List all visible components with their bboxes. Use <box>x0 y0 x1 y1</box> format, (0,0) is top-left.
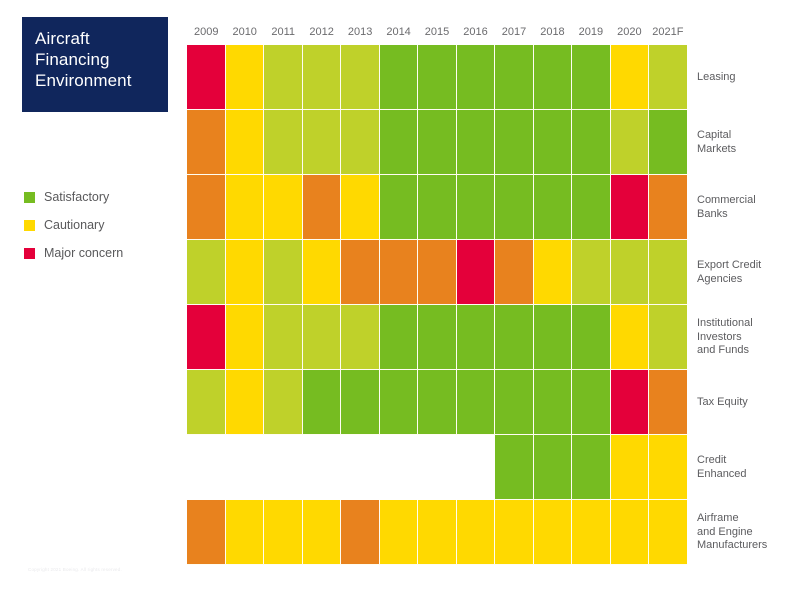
heatmap-row-label-line: and Funds <box>697 344 797 358</box>
heatmap-cell[interactable] <box>187 110 226 175</box>
heatmap-row-label-line: Capital <box>697 129 797 143</box>
heatmap-cell[interactable] <box>457 370 496 435</box>
year-column-header: 2013 <box>341 22 379 45</box>
year-column-header: 2018 <box>533 22 571 45</box>
heatmap-cell[interactable] <box>418 500 457 565</box>
page-title: Aircraft Financing Environment <box>22 17 168 112</box>
heatmap-cell[interactable] <box>457 110 496 175</box>
heatmap-cell[interactable] <box>495 435 534 500</box>
heatmap-cell[interactable] <box>341 175 380 240</box>
heatmap-cell[interactable] <box>572 175 611 240</box>
heatmap-cell[interactable] <box>611 45 650 110</box>
heatmap-row-label-line: and Engine <box>697 526 797 540</box>
heatmap-cell[interactable] <box>226 110 265 175</box>
heatmap-cell[interactable] <box>264 305 303 370</box>
heatmap-cell[interactable] <box>495 370 534 435</box>
heatmap-cell[interactable] <box>418 435 457 500</box>
heatmap-cell[interactable] <box>572 435 611 500</box>
heatmap-cell[interactable] <box>534 110 573 175</box>
heatmap-cell[interactable] <box>457 240 496 305</box>
heatmap-cell[interactable] <box>611 435 650 500</box>
heatmap-cell[interactable] <box>380 45 419 110</box>
year-column-header: 2010 <box>225 22 263 45</box>
heatmap-row-label-line: Institutional <box>697 317 797 331</box>
heatmap-row-label-line: Manufacturers <box>697 539 797 553</box>
heatmap-cell[interactable] <box>572 240 611 305</box>
heatmap-cell[interactable] <box>572 500 611 565</box>
year-column-header: 2009 <box>187 22 225 45</box>
heatmap-cell[interactable] <box>457 175 496 240</box>
heatmap-row-label: Tax Equity <box>697 370 797 435</box>
heatmap-cell[interactable] <box>649 45 687 110</box>
heatmap-cell[interactable] <box>649 370 687 435</box>
legend-item: Satisfactory <box>24 183 184 211</box>
heatmap-cell[interactable] <box>495 500 534 565</box>
heatmap-cell[interactable] <box>264 240 303 305</box>
heatmap-cell[interactable] <box>380 435 419 500</box>
heatmap-cell[interactable] <box>303 45 342 110</box>
heatmap-row <box>187 435 687 500</box>
heatmap-row <box>187 370 687 435</box>
heatmap-cell[interactable] <box>341 305 380 370</box>
heatmap-row-label-line: Airframe <box>697 512 797 526</box>
heatmap-cell[interactable] <box>187 370 226 435</box>
year-column-header: 2012 <box>302 22 340 45</box>
legend-item-label: Major concern <box>44 246 123 260</box>
heatmap-row-label: InstitutionalInvestorsand Funds <box>697 305 797 370</box>
heatmap-cell[interactable] <box>303 500 342 565</box>
heatmap-cell[interactable] <box>380 305 419 370</box>
year-column-header: 2020 <box>610 22 648 45</box>
heatmap-row-label-line: Leasing <box>697 71 797 85</box>
heatmap-cell[interactable] <box>534 500 573 565</box>
legend-item-label: Satisfactory <box>44 190 109 204</box>
heatmap-cell[interactable] <box>418 45 457 110</box>
heatmap-cell[interactable] <box>187 240 226 305</box>
heatmap-cell[interactable] <box>611 110 650 175</box>
heatmap-cell[interactable] <box>303 370 342 435</box>
heatmap-row <box>187 45 687 110</box>
heatmap-cell[interactable] <box>264 45 303 110</box>
heatmap-cell[interactable] <box>264 500 303 565</box>
heatmap-cell[interactable] <box>380 175 419 240</box>
heatmap-cell[interactable] <box>649 305 687 370</box>
legend-swatch-icon <box>24 248 35 259</box>
heatmap-cell[interactable] <box>649 435 687 500</box>
heatmap-cell[interactable] <box>495 45 534 110</box>
heatmap-cell[interactable] <box>341 240 380 305</box>
heatmap-cell[interactable] <box>380 500 419 565</box>
heatmap-cell[interactable] <box>572 370 611 435</box>
heatmap-cell[interactable] <box>611 175 650 240</box>
heatmap-cell[interactable] <box>457 500 496 565</box>
heatmap-cell[interactable] <box>341 110 380 175</box>
heatmap-row-label-line: Commercial <box>697 194 797 208</box>
heatmap-cell[interactable] <box>534 45 573 110</box>
heatmap-cell[interactable] <box>649 500 687 565</box>
heatmap-row-label: CreditEnhanced <box>697 435 797 500</box>
heatmap-cell[interactable] <box>187 500 226 565</box>
heatmap-cell[interactable] <box>226 370 265 435</box>
heatmap: 2009201020112012201320142015201620172018… <box>187 22 687 565</box>
heatmap-row-label: CapitalMarkets <box>697 110 797 175</box>
heatmap-cell[interactable] <box>611 370 650 435</box>
heatmap-row-label-line: Banks <box>697 208 797 222</box>
page-title-line-2: Financing <box>35 49 168 70</box>
heatmap-cell[interactable] <box>534 240 573 305</box>
heatmap-row-label-line: Agencies <box>697 273 797 287</box>
heatmap-cell[interactable] <box>649 175 687 240</box>
heatmap-cell[interactable] <box>534 305 573 370</box>
heatmap-row-label: CommercialBanks <box>697 175 797 240</box>
heatmap-cell[interactable] <box>649 240 687 305</box>
heatmap-row-label-line: Credit <box>697 454 797 468</box>
heatmap-cell[interactable] <box>303 435 342 500</box>
legend-item-label: Cautionary <box>44 218 104 232</box>
heatmap-cell[interactable] <box>264 110 303 175</box>
heatmap-cell[interactable] <box>572 305 611 370</box>
heatmap-row-label: Export CreditAgencies <box>697 240 797 305</box>
heatmap-cell[interactable] <box>495 305 534 370</box>
heatmap-cell[interactable] <box>341 500 380 565</box>
heatmap-cell[interactable] <box>187 305 226 370</box>
legend-item: Cautionary <box>24 211 184 239</box>
heatmap-cell[interactable] <box>418 305 457 370</box>
heatmap-cell[interactable] <box>226 175 265 240</box>
page-title-line-3: Environment <box>35 70 168 91</box>
year-column-header: 2014 <box>379 22 417 45</box>
heatmap-cell[interactable] <box>187 45 226 110</box>
heatmap-row-label: Airframeand EngineManufacturers <box>697 500 797 565</box>
heatmap-cell[interactable] <box>264 370 303 435</box>
heatmap-cell[interactable] <box>611 305 650 370</box>
heatmap-row-label-line: Investors <box>697 331 797 345</box>
year-column-header: 2021F <box>649 22 687 45</box>
year-column-header: 2017 <box>495 22 533 45</box>
heatmap-cell[interactable] <box>495 110 534 175</box>
heatmap-cell[interactable] <box>418 370 457 435</box>
heatmap-row-label-line: Export Credit <box>697 259 797 273</box>
heatmap-cell[interactable] <box>380 370 419 435</box>
heatmap-cell[interactable] <box>495 175 534 240</box>
heatmap-cell[interactable] <box>303 175 342 240</box>
heatmap-row <box>187 110 687 175</box>
heatmap-cell[interactable] <box>187 175 226 240</box>
page-title-line-1: Aircraft <box>35 28 168 49</box>
heatmap-row <box>187 500 687 565</box>
heatmap-cell[interactable] <box>572 45 611 110</box>
heatmap-cell[interactable] <box>495 240 534 305</box>
heatmap-cell[interactable] <box>226 240 265 305</box>
heatmap-cell[interactable] <box>187 435 226 500</box>
copyright-note: Copyright 2021 Boeing. All rights reserv… <box>28 567 122 572</box>
heatmap-cell[interactable] <box>226 500 265 565</box>
heatmap-cell[interactable] <box>264 175 303 240</box>
legend-swatch-icon <box>24 192 35 203</box>
heatmap-row-label-line: Tax Equity <box>697 396 797 410</box>
heatmap-cell[interactable] <box>341 370 380 435</box>
heatmap-cell[interactable] <box>611 500 650 565</box>
heatmap-cell[interactable] <box>303 305 342 370</box>
heatmap-cell[interactable] <box>264 435 303 500</box>
legend-item: Major concern <box>24 239 184 267</box>
heatmap-row <box>187 305 687 370</box>
heatmap-cell[interactable] <box>380 240 419 305</box>
heatmap-cell[interactable] <box>341 45 380 110</box>
heatmap-cell[interactable] <box>380 110 419 175</box>
heatmap-cell[interactable] <box>418 175 457 240</box>
heatmap-cell[interactable] <box>457 45 496 110</box>
year-column-header: 2019 <box>572 22 610 45</box>
heatmap-cell[interactable] <box>341 435 380 500</box>
heatmap-year-header: 2009201020112012201320142015201620172018… <box>187 22 687 45</box>
heatmap-cell[interactable] <box>457 435 496 500</box>
year-column-header: 2011 <box>264 22 302 45</box>
heatmap-cell[interactable] <box>418 110 457 175</box>
heatmap-row <box>187 240 687 305</box>
heatmap-row-label: Leasing <box>697 45 797 110</box>
heatmap-cell[interactable] <box>303 240 342 305</box>
slide-canvas: Aircraft Financing Environment Satisfact… <box>0 0 800 600</box>
heatmap-row <box>187 175 687 240</box>
heatmap-cell[interactable] <box>303 110 342 175</box>
heatmap-cell[interactable] <box>611 240 650 305</box>
year-column-header: 2016 <box>456 22 494 45</box>
heatmap-cell[interactable] <box>226 45 265 110</box>
heatmap-cell[interactable] <box>418 240 457 305</box>
legend: SatisfactoryCautionaryMajor concern <box>24 183 184 267</box>
year-column-header: 2015 <box>418 22 456 45</box>
heatmap-row-label-line: Enhanced <box>697 468 797 482</box>
legend-swatch-icon <box>24 220 35 231</box>
heatmap-row-labels: LeasingCapitalMarketsCommercialBanksExpo… <box>697 45 797 565</box>
heatmap-cell[interactable] <box>226 305 265 370</box>
heatmap-cell[interactable] <box>226 435 265 500</box>
heatmap-cell[interactable] <box>572 110 611 175</box>
heatmap-cell[interactable] <box>534 435 573 500</box>
heatmap-cell[interactable] <box>534 370 573 435</box>
heatmap-cell[interactable] <box>649 110 687 175</box>
heatmap-cell[interactable] <box>457 305 496 370</box>
heatmap-grid <box>187 45 687 565</box>
heatmap-row-label-line: Markets <box>697 143 797 157</box>
heatmap-cell[interactable] <box>534 175 573 240</box>
